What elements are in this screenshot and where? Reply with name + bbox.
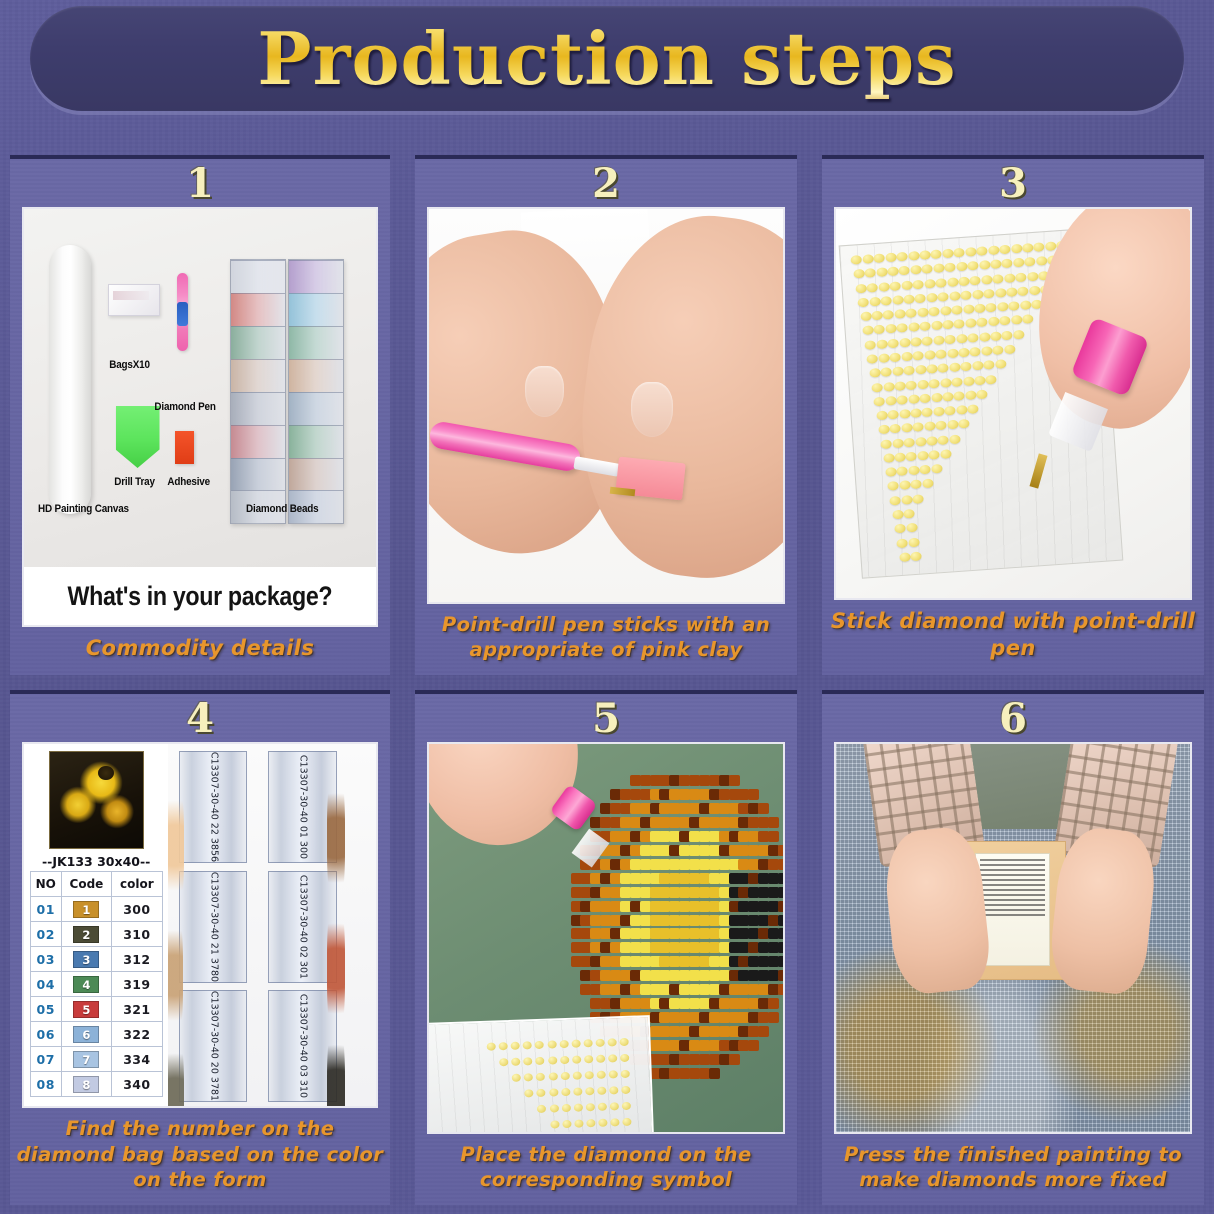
cell-code: 5 (61, 997, 112, 1022)
step-photo-2 (427, 207, 785, 604)
bag-label: C13307-30-40 21 3780 (207, 872, 218, 982)
table-row: 011300 (30, 897, 162, 922)
color-swatch: 5 (73, 1001, 99, 1018)
label-diamond-pen: Diamond Pen (154, 401, 215, 413)
step-number-5: 5 (415, 694, 797, 742)
chart-side: --JK133 30x40-- NO Code color 0113000223… (24, 744, 168, 1106)
label-hd-canvas: HD Painting Canvas (38, 503, 129, 515)
bag-stack-object (108, 284, 160, 316)
step-photo-4: --JK133 30x40-- NO Code color 0113000223… (22, 742, 378, 1108)
bag-label: C13307-30-40 01 300 (297, 755, 308, 859)
cell-code: 2 (61, 922, 112, 947)
bag-label: C13307-30-40 22 3856 (207, 752, 218, 862)
color-code-table: NO Code color 01130002231003331204431905… (30, 871, 163, 1097)
cell-code: 1 (61, 897, 112, 922)
cell-color: 322 (112, 1022, 162, 1047)
package-headline: What's in your package? (68, 581, 333, 612)
table-header-row: NO Code color (30, 872, 162, 897)
col-color: color (112, 872, 162, 897)
cell-no: 07 (30, 1047, 61, 1072)
pen-clay-photo (429, 209, 783, 602)
table-row: 055321 (30, 997, 162, 1022)
loose-beads (327, 766, 345, 911)
bag-column-2: C13307-30-40 01 300 C13307-30-40 02 301 … (268, 744, 337, 1106)
color-swatch: 3 (73, 951, 99, 968)
bag-label: C13307-30-40 02 301 (297, 875, 308, 979)
step-photo-3 (834, 207, 1192, 600)
step-photo-5 (427, 742, 785, 1134)
canvas-roll-object (49, 245, 91, 514)
label-drill-tray: Drill Tray (114, 476, 155, 488)
press-painting-photo (836, 744, 1190, 1132)
bead-column-right (288, 259, 344, 524)
bag-item: C13307-30-40 21 3780 (179, 871, 248, 983)
step-number-6: 6 (822, 694, 1204, 742)
cell-color: 334 (112, 1047, 162, 1072)
step-panel-1: 1 (10, 155, 390, 675)
col-code: Code (61, 872, 112, 897)
color-swatch: 7 (73, 1051, 99, 1068)
color-chart-photo: --JK133 30x40-- NO Code color 0113000223… (24, 744, 376, 1106)
label-adhesive: Adhesive (167, 476, 210, 488)
step-number-3: 3 (822, 159, 1204, 207)
sunflower-thumbnail (49, 751, 144, 849)
steps-grid: 1 (10, 155, 1204, 1205)
step-caption-3: Stick diamond with point-drill pen (822, 600, 1204, 675)
step-caption-4: Find the number on the diamond bag based… (10, 1108, 390, 1205)
step-panel-6: 6 Press the finished painting to (822, 690, 1204, 1205)
step-panel-3: 3 Stick diamond with point-drill pen (822, 155, 1204, 675)
color-swatch: 6 (73, 1026, 99, 1043)
step-number-2: 2 (415, 159, 797, 207)
cell-code: 8 (61, 1072, 112, 1097)
package-headline-bar: What's in your package? (24, 567, 376, 625)
bag-column-1: C13307-30-40 22 3856 C13307-30-40 21 378… (179, 744, 248, 1106)
cell-code: 4 (61, 972, 112, 997)
cell-no: 03 (30, 947, 61, 972)
col-no: NO (30, 872, 61, 897)
step-caption-5: Place the diamond on the corresponding s… (415, 1134, 797, 1205)
bag-item: C13307-30-40 20 3781 (179, 990, 248, 1102)
color-swatch: 2 (73, 926, 99, 943)
cell-code: 3 (61, 947, 112, 972)
cell-no: 08 (30, 1072, 61, 1097)
page-title: Production steps (30, 6, 1184, 111)
step-panel-4: 4 --JK133 30x40-- NO Code color (10, 690, 390, 1205)
cell-no: 05 (30, 997, 61, 1022)
step-panel-5: 5 Place the diamond on the corresponding… (415, 690, 797, 1205)
diamond-pen-object (177, 273, 188, 351)
drill-tray-object (116, 406, 160, 468)
table-row: 066322 (30, 1022, 162, 1047)
title-banner: Production steps (30, 6, 1184, 111)
step-panel-2: 2 Point-drill pen sticks with an appropr… (415, 155, 797, 675)
package-contents-photo: BagsX10 Diamond Pen Drill Tray Adhesive … (24, 209, 376, 567)
diamond-bags-side: C13307-30-40 22 3856 C13307-30-40 21 378… (168, 744, 376, 1106)
bead-tray-5 (429, 1015, 654, 1131)
color-swatch: 1 (73, 901, 99, 918)
label-diamond-beads: Diamond Beads (246, 503, 318, 515)
bag-label: C13307-30-40 03 310 (297, 994, 308, 1098)
step-photo-6 (834, 742, 1192, 1134)
bead-column-left (230, 259, 286, 524)
thumbnail-right (631, 382, 673, 437)
table-row: 088340 (30, 1072, 162, 1097)
cell-no: 02 (30, 922, 61, 947)
step-number-4: 4 (10, 694, 390, 742)
cell-code: 7 (61, 1047, 112, 1072)
bag-label: C13307-30-40 20 3781 (207, 991, 218, 1101)
place-diamond-photo (429, 744, 783, 1132)
cell-color: 321 (112, 997, 162, 1022)
color-code-body: 0113000223100333120443190553210663220773… (30, 897, 162, 1097)
table-row: 033312 (30, 947, 162, 972)
table-row: 044319 (30, 972, 162, 997)
cell-no: 04 (30, 972, 61, 997)
table-row: 022310 (30, 922, 162, 947)
cell-color: 312 (112, 947, 162, 972)
step-photo-1: BagsX10 Diamond Pen Drill Tray Adhesive … (22, 207, 378, 627)
cell-color: 300 (112, 897, 162, 922)
cell-color: 340 (112, 1072, 162, 1097)
color-swatch: 8 (73, 1076, 99, 1093)
step-caption-2: Point-drill pen sticks with an appropria… (415, 604, 797, 675)
step-caption-6: Press the finished painting to make diam… (822, 1134, 1204, 1205)
cell-color: 310 (112, 922, 162, 947)
cell-color: 319 (112, 972, 162, 997)
thumbnail-left (525, 366, 564, 417)
label-bags: BagsX10 (109, 359, 150, 371)
step-caption-1: Commodity details (10, 627, 390, 675)
step-number-1: 1 (10, 159, 390, 207)
infographic-page: Production steps 1 (0, 0, 1214, 1214)
cell-code: 6 (61, 1022, 112, 1047)
cell-no: 01 (30, 897, 61, 922)
table-row: 077334 (30, 1047, 162, 1072)
bag-item: C13307-30-40 22 3856 (179, 751, 248, 863)
cell-no: 06 (30, 1022, 61, 1047)
loose-beads (168, 773, 184, 918)
color-swatch: 4 (73, 976, 99, 993)
chart-title: --JK133 30x40-- (30, 854, 163, 869)
stick-diamond-photo (836, 209, 1190, 598)
adhesive-object (175, 431, 194, 464)
loose-beads (327, 1019, 345, 1106)
